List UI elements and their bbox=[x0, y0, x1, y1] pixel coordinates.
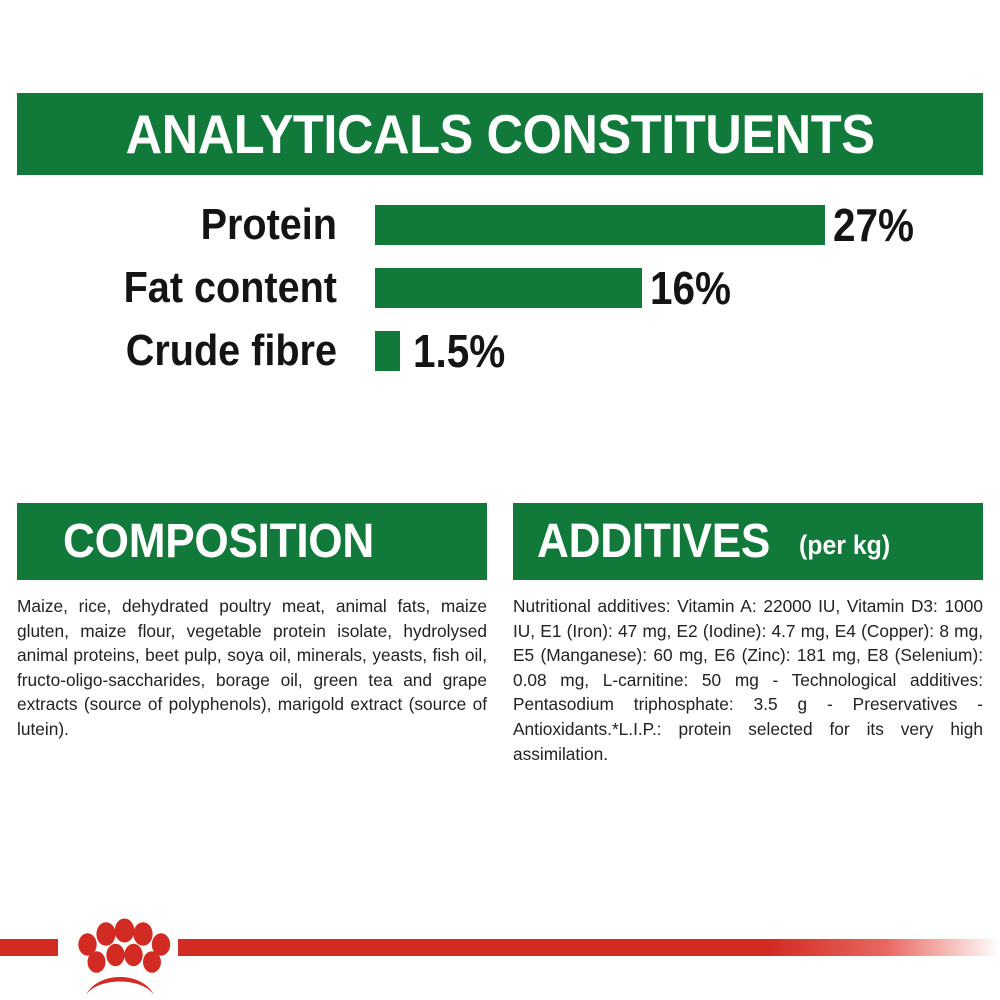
nutrition-panel-page: ANALYTICALS CONSTITUENTS Protein 27% Fat… bbox=[0, 0, 1000, 1000]
chart-row: Protein 27% bbox=[0, 196, 1000, 254]
footer-rule-right bbox=[178, 939, 1000, 956]
chart-row: Fat content 16% bbox=[0, 259, 1000, 317]
chart-bar-crude-fibre bbox=[375, 331, 400, 371]
chart-bar-fat-content bbox=[375, 268, 642, 308]
analyticals-constituents-header: ANALYTICALS CONSTITUENTS bbox=[17, 93, 983, 175]
chart-bar-protein bbox=[375, 205, 825, 245]
royal-canin-crown-icon bbox=[62, 913, 178, 998]
chart-row-label-fat-content: Fat content bbox=[34, 264, 337, 312]
analyticals-constituents-title: ANALYTICALS CONSTITUENTS bbox=[126, 107, 875, 162]
analyticals-bar-chart: Protein 27% Fat content 16% Crude fibre … bbox=[0, 196, 1000, 381]
composition-body-text: Maize, rice, dehydrated poultry meat, an… bbox=[17, 580, 487, 742]
additives-panel: ADDITIVES (per kg) Nutritional additives… bbox=[513, 503, 983, 766]
composition-title: COMPOSITION bbox=[63, 517, 374, 567]
chart-value-protein: 27% bbox=[833, 200, 914, 250]
chart-row-label-protein: Protein bbox=[34, 201, 337, 249]
additives-body-text: Nutritional additives: Vitamin A: 22000 … bbox=[513, 580, 983, 766]
chart-value-crude-fibre: 1.5% bbox=[413, 326, 505, 376]
footer-rule-left bbox=[0, 939, 58, 956]
chart-row: Crude fibre 1.5% bbox=[0, 322, 1000, 380]
composition-header: COMPOSITION bbox=[17, 503, 487, 580]
additives-title: ADDITIVES bbox=[537, 517, 770, 567]
additives-header: ADDITIVES (per kg) bbox=[513, 503, 983, 580]
additives-title-unit: (per kg) bbox=[799, 531, 890, 559]
composition-panel: COMPOSITION Maize, rice, dehydrated poul… bbox=[17, 503, 487, 742]
chart-value-fat-content: 16% bbox=[650, 263, 731, 313]
chart-row-label-crude-fibre: Crude fibre bbox=[34, 327, 337, 375]
